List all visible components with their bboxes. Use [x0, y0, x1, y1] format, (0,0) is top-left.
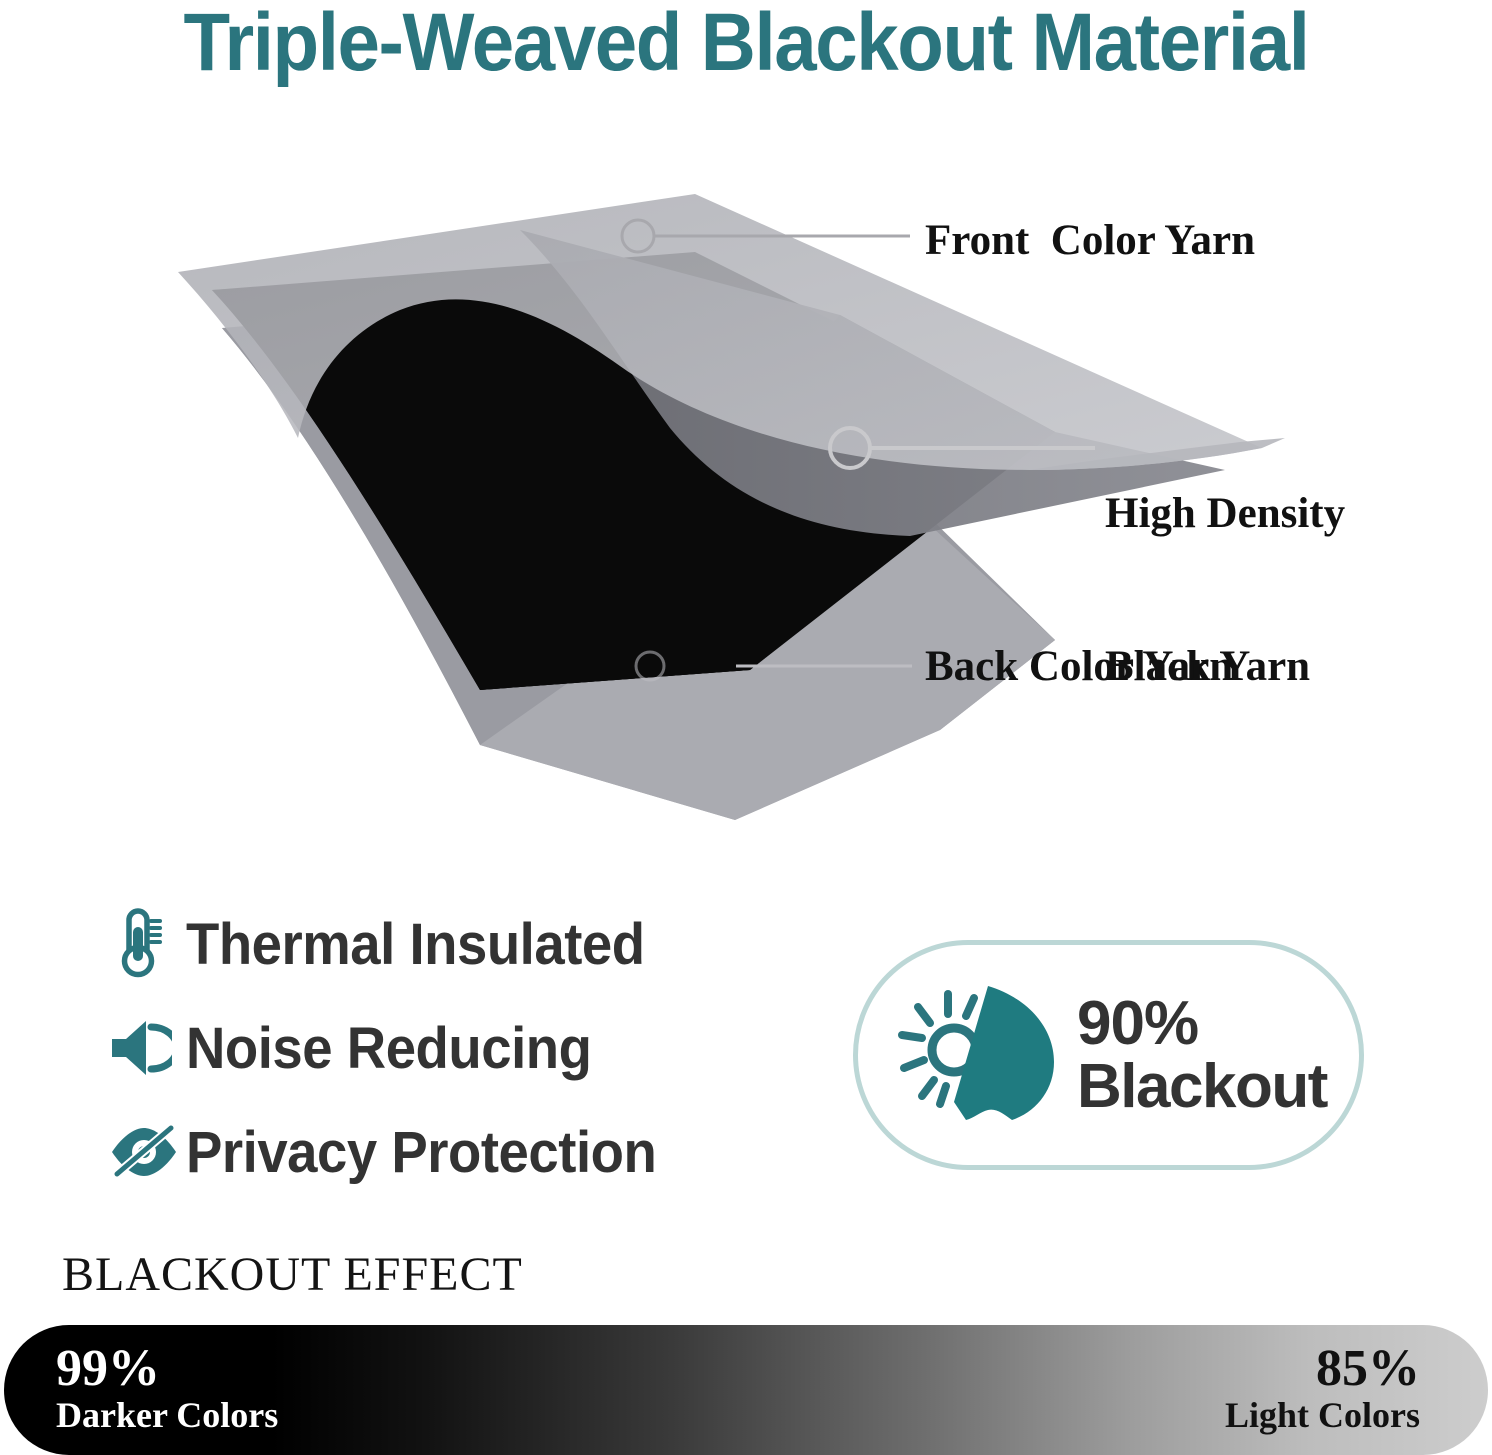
- feature-label-noise-reducing: Noise Reducing: [186, 1015, 591, 1082]
- feature-label-thermal-insulated: Thermal Insulated: [186, 911, 645, 978]
- callout-label-front: Front Color Yarn: [925, 216, 1255, 267]
- feature-item-thermal-insulated: Thermal Insulated: [108, 892, 808, 996]
- thermometer-icon: [108, 903, 186, 985]
- callout-label-high-density-line1: High Density: [1105, 489, 1345, 540]
- stat-darker-colors: 99% Darker Colors: [56, 1343, 278, 1433]
- blackout-effect-heading: BLACKOUT EFFECT: [62, 1247, 523, 1302]
- badge-percent: 90%: [1077, 992, 1327, 1055]
- stat-light-percent: 85%: [1225, 1343, 1420, 1395]
- feature-item-noise-reducing: Noise Reducing: [108, 996, 808, 1100]
- feature-label-privacy-protection: Privacy Protection: [186, 1119, 656, 1186]
- stat-darker-percent: 99%: [56, 1343, 278, 1395]
- feature-list: Thermal Insulated Noise Reducing Privacy…: [108, 892, 808, 1204]
- sun-blocked-icon: [888, 975, 1073, 1135]
- callout-label-high-density: High Density Black Yarn: [1105, 388, 1345, 794]
- stat-darker-label: Darker Colors: [56, 1397, 278, 1433]
- stat-light-label: Light Colors: [1225, 1397, 1420, 1433]
- badge-word: Blackout: [1077, 1055, 1327, 1118]
- blackout-effect-gradient-bar: 99% Darker Colors 85% Light Colors: [4, 1325, 1488, 1455]
- callout-label-back: Back Color Yarn: [925, 642, 1233, 693]
- eye-off-icon: [108, 1111, 186, 1193]
- badge-text-block: 90% Blackout: [1077, 992, 1327, 1118]
- blackout-percentage-badge: 90% Blackout: [853, 940, 1364, 1170]
- stat-light-colors: 85% Light Colors: [1225, 1343, 1420, 1433]
- feature-item-privacy-protection: Privacy Protection: [108, 1100, 808, 1204]
- speaker-icon: [108, 1007, 186, 1089]
- fabric-layer-diagram: Front Color Yarn High Density Black Yarn…: [150, 170, 1400, 820]
- page-title: Triple-Weaved Blackout Material: [52, 0, 1440, 90]
